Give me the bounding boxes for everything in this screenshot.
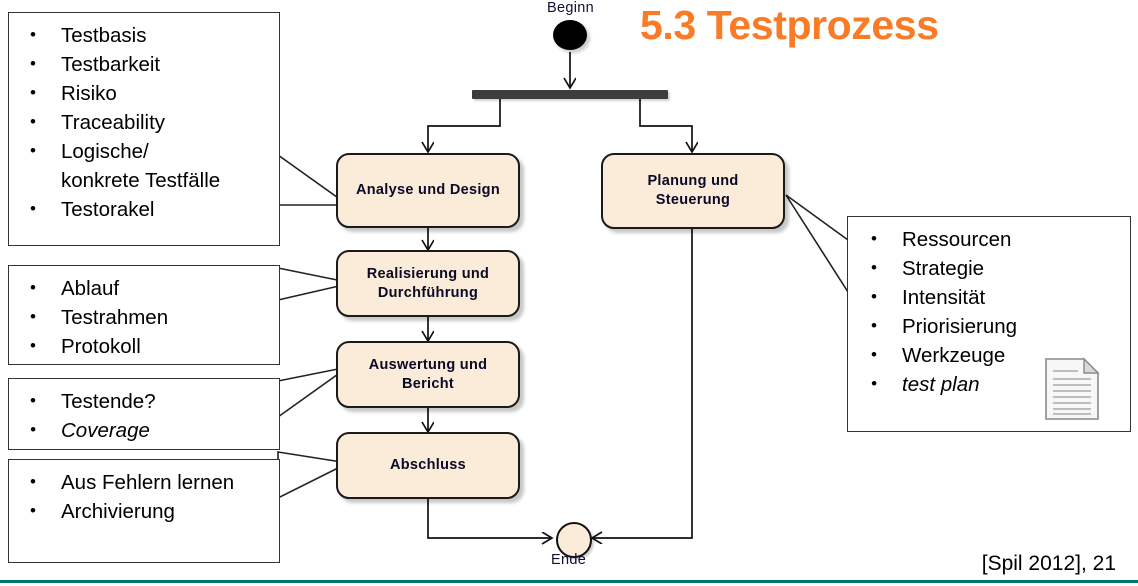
edge-fork-to-analyse	[428, 99, 500, 152]
list-item: Testende?	[21, 387, 269, 416]
start-node	[553, 20, 587, 50]
list-item: Coverage	[21, 416, 269, 445]
start-node-label: Beginn	[547, 0, 594, 16]
fork-bar	[472, 90, 668, 99]
footer-accent-rule	[0, 580, 1138, 583]
edge-fork-to-planung	[640, 99, 692, 152]
callout-auswertung[interactable]: Testende? Coverage	[8, 378, 280, 450]
edge-abschluss-to-ende	[428, 499, 552, 538]
activity-abschluss[interactable]: Abschluss	[336, 432, 520, 499]
list-item: Protokoll	[21, 332, 269, 361]
list-item: Archivierung	[21, 497, 269, 526]
page-title: 5.3 Testprozess	[640, 2, 939, 49]
activity-label: Planung und Steuerung	[647, 172, 738, 210]
activity-realisierung-und-durchfuehrung[interactable]: Realisierung und Durchführung	[336, 250, 520, 317]
list-item: Ablauf	[21, 274, 269, 303]
callout-list: Testbasis Testbarkeit Risiko Traceabilit…	[21, 21, 269, 224]
list-item: Testorakel	[21, 195, 269, 224]
list-item: Logische/	[21, 137, 269, 166]
callout-list: Aus Fehlern lernen Archivierung	[21, 468, 269, 526]
activity-label: Analyse und Design	[356, 181, 500, 200]
list-item: Risiko	[21, 79, 269, 108]
activity-label: Auswertung und Bericht	[369, 356, 488, 394]
document-icon	[1044, 355, 1100, 421]
list-item: Testbasis	[21, 21, 269, 50]
end-node-label: Ende	[551, 552, 586, 568]
list-item: Intensität	[862, 283, 1120, 312]
callout-tail-planung	[786, 195, 848, 292]
slide-canvas: 5.3 Testprozess Beginn Analyse und Desig…	[0, 0, 1138, 586]
activity-planung-und-steuerung[interactable]: Planung und Steuerung	[601, 153, 785, 229]
list-item: konkrete Testfälle	[21, 166, 269, 195]
list-item: Strategie	[862, 254, 1120, 283]
callout-list: Testende? Coverage	[21, 387, 269, 445]
callout-list: Ablauf Testrahmen Protokoll	[21, 274, 269, 361]
footer-reference: [Spil 2012], 21	[982, 552, 1116, 576]
callout-abschluss[interactable]: Aus Fehlern lernen Archivierung	[8, 459, 280, 563]
activity-label: Abschluss	[390, 456, 466, 475]
list-item: Testrahmen	[21, 303, 269, 332]
list-item: Ressourcen	[862, 225, 1120, 254]
list-item: Aus Fehlern lernen	[21, 468, 269, 497]
callout-analyse[interactable]: Testbasis Testbarkeit Risiko Traceabilit…	[8, 12, 280, 246]
list-item: Traceability	[21, 108, 269, 137]
edge-planung-to-ende	[592, 229, 692, 538]
list-item: Testbarkeit	[21, 50, 269, 79]
callout-planung[interactable]: Ressourcen Strategie Intensität Priorisi…	[847, 216, 1131, 432]
list-item: Priorisierung	[862, 312, 1120, 341]
activity-analyse-und-design[interactable]: Analyse und Design	[336, 153, 520, 228]
activity-label: Realisierung und Durchführung	[367, 265, 489, 303]
activity-auswertung-und-bericht[interactable]: Auswertung und Bericht	[336, 341, 520, 408]
callout-realisierung[interactable]: Ablauf Testrahmen Protokoll	[8, 265, 280, 365]
